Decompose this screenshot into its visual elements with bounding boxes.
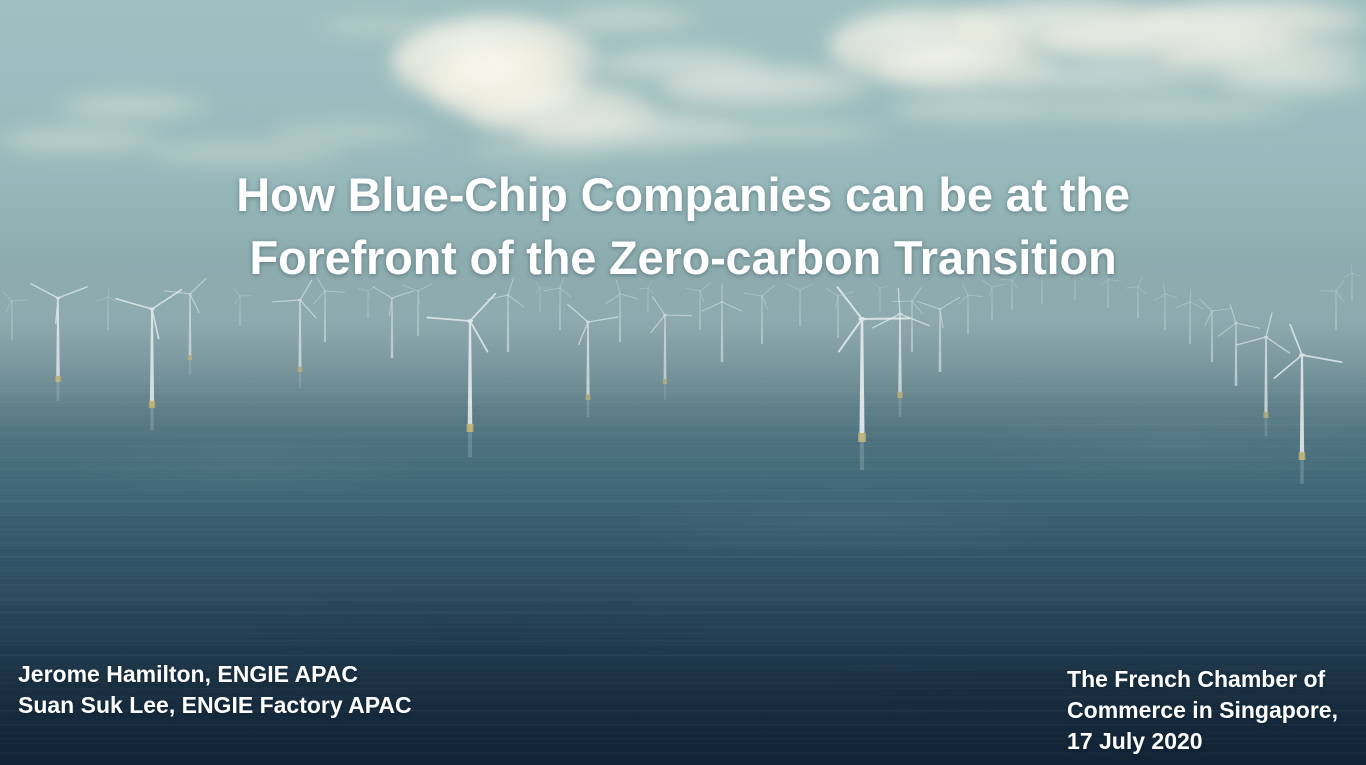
event-date: 17 July 2020 [1067, 726, 1338, 757]
presenter-line-1: Jerome Hamilton, ENGIE APAC [18, 659, 412, 690]
presenter-line-2: Suan Suk Lee, ENGIE Factory APAC [18, 690, 412, 721]
page-title: How Blue-Chip Companies can be at the Fo… [0, 163, 1366, 289]
event-line-1: The French Chamber of [1067, 664, 1338, 695]
sky-sea-gradient [0, 0, 1366, 765]
event-line-2: Commerce in Singapore, [1067, 695, 1338, 726]
presenter-credits: Jerome Hamilton, ENGIE APAC Suan Suk Lee… [18, 659, 412, 721]
title-slide: How Blue-Chip Companies can be at the Fo… [0, 0, 1366, 765]
event-details: The French Chamber of Commerce in Singap… [1067, 664, 1338, 757]
title-line-2: Forefront of the Zero-carbon Transition [70, 226, 1296, 289]
title-line-1: How Blue-Chip Companies can be at the [70, 163, 1296, 226]
